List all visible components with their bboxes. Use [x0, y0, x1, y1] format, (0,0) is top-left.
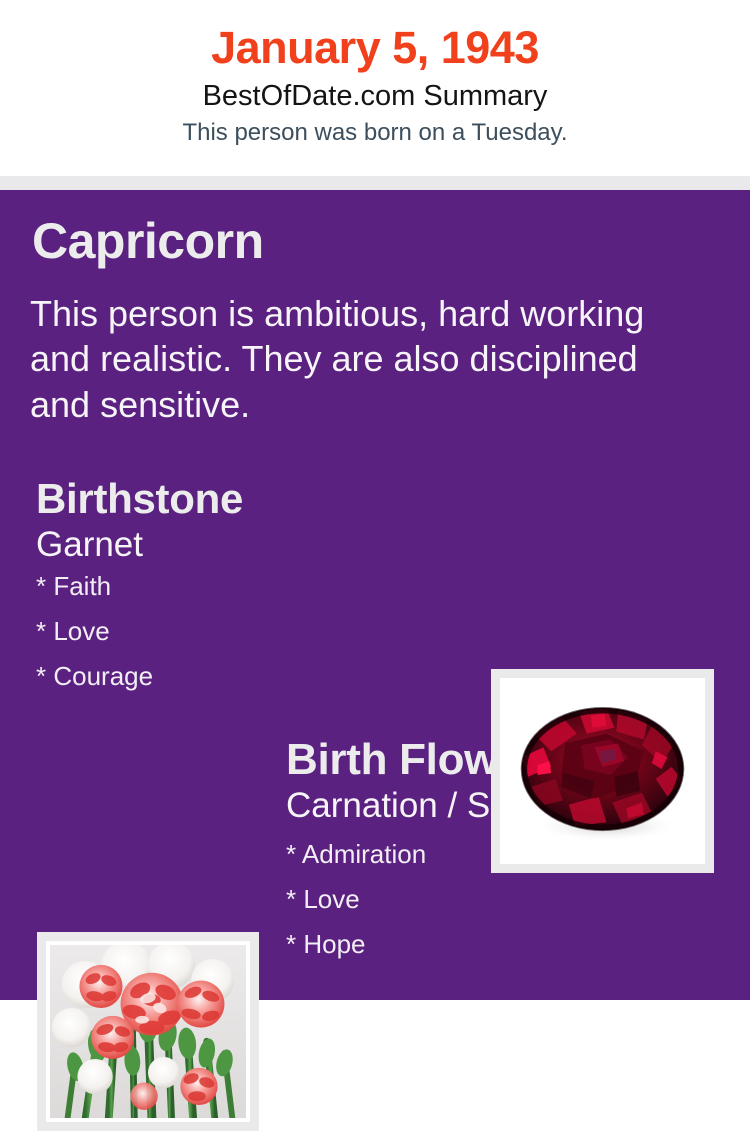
list-item: * Courage	[36, 663, 476, 708]
site-name-subtitle: BestOfDate.com Summary	[0, 71, 750, 113]
birthstone-photo-inner	[500, 678, 705, 864]
birthstone-heading: Birthstone	[36, 478, 476, 520]
garnet-gemstone-icon	[504, 682, 701, 860]
list-item: * Faith	[36, 573, 476, 618]
carnation-bouquet-icon	[50, 945, 246, 1118]
birthflower-photo-inner	[46, 941, 250, 1122]
header-section: January 5, 1943 BestOfDate.com Summary T…	[0, 0, 750, 176]
header-divider	[0, 176, 750, 190]
details-panel: Capricorn This person is ambitious, hard…	[0, 190, 750, 1000]
birthstone-name: Garnet	[36, 520, 476, 562]
list-item: * Hope	[286, 931, 736, 976]
page-title-date: January 5, 1943	[0, 0, 750, 71]
list-item: * Love	[286, 886, 736, 931]
infographic-root: January 5, 1943 BestOfDate.com Summary T…	[0, 0, 750, 1000]
zodiac-description: This person is ambitious, hard working a…	[30, 291, 650, 427]
weekday-statement: This person was born on a Tuesday.	[0, 113, 750, 146]
zodiac-sign-title: Capricorn	[32, 216, 264, 266]
list-item: * Love	[36, 618, 476, 663]
birthstone-photo-frame	[491, 669, 714, 873]
birthstone-trait-list: * Faith * Love * Courage	[36, 562, 476, 708]
birthflower-photo-frame	[37, 932, 259, 1131]
birthstone-block: Birthstone Garnet * Faith * Love * Coura…	[36, 478, 476, 708]
